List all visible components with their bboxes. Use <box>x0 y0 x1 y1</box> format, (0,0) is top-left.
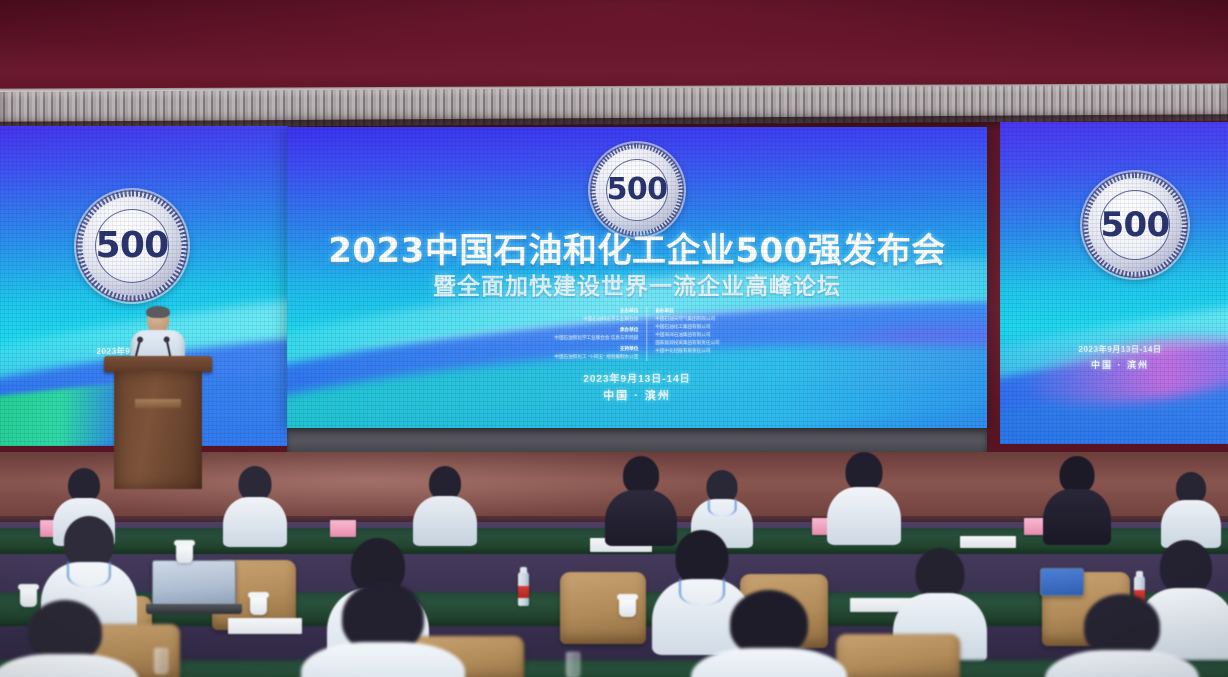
water-glass <box>566 652 580 677</box>
credits-line: 中国中化控股有限责任公司 <box>655 347 719 355</box>
conference-hall-photo: 500 2023年9月13日-14日 中国 · 滨州 500 2023年9月13… <box>0 0 1228 677</box>
audience-person <box>300 582 466 677</box>
person-head <box>239 466 272 501</box>
lanyard <box>708 499 737 516</box>
person-head <box>64 516 114 568</box>
laptop-keyboard-deck <box>146 604 242 614</box>
event-title: 2023中国石油和化工企业500强发布会 <box>287 223 987 272</box>
podium-front-panel <box>114 371 202 489</box>
credits-heading: 承办单位 <box>554 326 638 334</box>
audience-person <box>412 466 478 544</box>
person-head <box>1084 594 1160 658</box>
person-head <box>429 466 461 500</box>
medallion-number: 500 <box>1101 208 1170 242</box>
person-shirt <box>691 648 847 677</box>
person-shirt <box>827 487 901 545</box>
podium-plaque <box>135 399 181 408</box>
top500-medallion-icon: 500 <box>76 190 188 302</box>
organizer-credits: 主办单位 中国石油和化学工业联合会 承办单位 中国石油和化学工业联合会 信息与市… <box>546 307 727 361</box>
credits-heading: 协办单位 <box>655 307 719 315</box>
audience-person <box>690 590 848 677</box>
person-shirt <box>0 654 139 677</box>
credits-right-column: 协办单位 中国石油天然气集团有限公司 中国石油化工集团有限公司 中国海洋石油集团… <box>647 307 727 361</box>
event-date: 2023年9月13日-14日 <box>287 370 987 385</box>
person-head <box>28 600 102 662</box>
person-head <box>623 456 659 494</box>
right-screen-location: 中国 · 滨州 <box>1000 358 1228 371</box>
document-papers <box>960 536 1016 548</box>
lanyard <box>67 562 111 587</box>
credits-line: 中国石油和化学工业联合会 <box>554 315 638 323</box>
podium-top-surface <box>104 356 212 372</box>
medallion-number: 500 <box>96 228 169 264</box>
right-screen-date: 2023年9月13日-14日 <box>1000 344 1228 355</box>
audience-chair <box>836 634 960 677</box>
person-head <box>1060 456 1095 493</box>
credits-left-column: 主办单位 中国石油和化学工业联合会 承办单位 中国石油和化学工业联合会 信息与市… <box>546 307 647 361</box>
credits-line: 中国石油化工集团有限公司 <box>655 323 719 331</box>
audience-person <box>1160 472 1222 546</box>
credits-line: 国家能源投资集团有限责任公司 <box>655 339 719 347</box>
tea-cup <box>176 544 193 563</box>
person-shirt <box>301 642 465 677</box>
top500-medallion-icon: 500 <box>1082 172 1188 278</box>
credits-line: 中国石油天然气集团有限公司 <box>655 315 719 323</box>
tea-cup <box>250 596 267 615</box>
speaker-hair <box>146 306 170 318</box>
credits-heading: 支持单位 <box>554 345 638 353</box>
audience-person <box>826 452 902 544</box>
medallion-number: 500 <box>607 175 668 205</box>
event-location: 中国 · 滨州 <box>287 387 987 403</box>
water-glass <box>154 648 168 674</box>
person-head <box>730 590 808 656</box>
person-head <box>916 548 965 599</box>
tea-cup <box>619 598 636 617</box>
person-head <box>846 452 883 491</box>
person-head <box>1160 540 1212 594</box>
credits-line: 中国石油和化工 "十四五" 规划编制办公室 <box>554 353 638 361</box>
medallion-inner-ring: 500 <box>606 159 668 221</box>
audience-person <box>1042 456 1112 544</box>
audience-person <box>0 600 140 677</box>
medallion-inner-ring: 500 <box>1100 190 1170 260</box>
laptop-screen <box>152 560 236 606</box>
podium <box>104 356 212 488</box>
laptop-screen <box>1040 568 1084 596</box>
document-papers <box>228 618 302 634</box>
name-placard <box>330 520 356 537</box>
person-shirt <box>223 497 287 547</box>
ceiling-light-sheen <box>0 0 1228 92</box>
credits-heading: 主办单位 <box>554 307 638 315</box>
person-shirt <box>1045 650 1199 677</box>
audience-person <box>222 466 288 544</box>
credits-line: 中国石油和化学工业联合会 信息与市场部 <box>554 334 638 342</box>
led-screen-right: 500 2023年9月13日-14日 中国 · 滨州 <box>1000 122 1228 444</box>
event-subtitle: 暨全面加快建设世界一流企业高峰论坛 <box>287 267 987 301</box>
person-head <box>68 468 100 502</box>
audience-person <box>1044 594 1200 677</box>
led-screen-main: 500 2023中国石油和化工企业500强发布会 暨全面加快建设世界一流企业高峰… <box>287 127 987 430</box>
led-right-background <box>1000 122 1228 444</box>
person-head <box>676 530 729 585</box>
medallion-inner-ring: 500 <box>95 209 169 283</box>
water-bottle <box>518 572 529 606</box>
credits-line: 中国海洋石油集团有限公司 <box>655 331 719 339</box>
person-suit <box>1043 489 1111 545</box>
